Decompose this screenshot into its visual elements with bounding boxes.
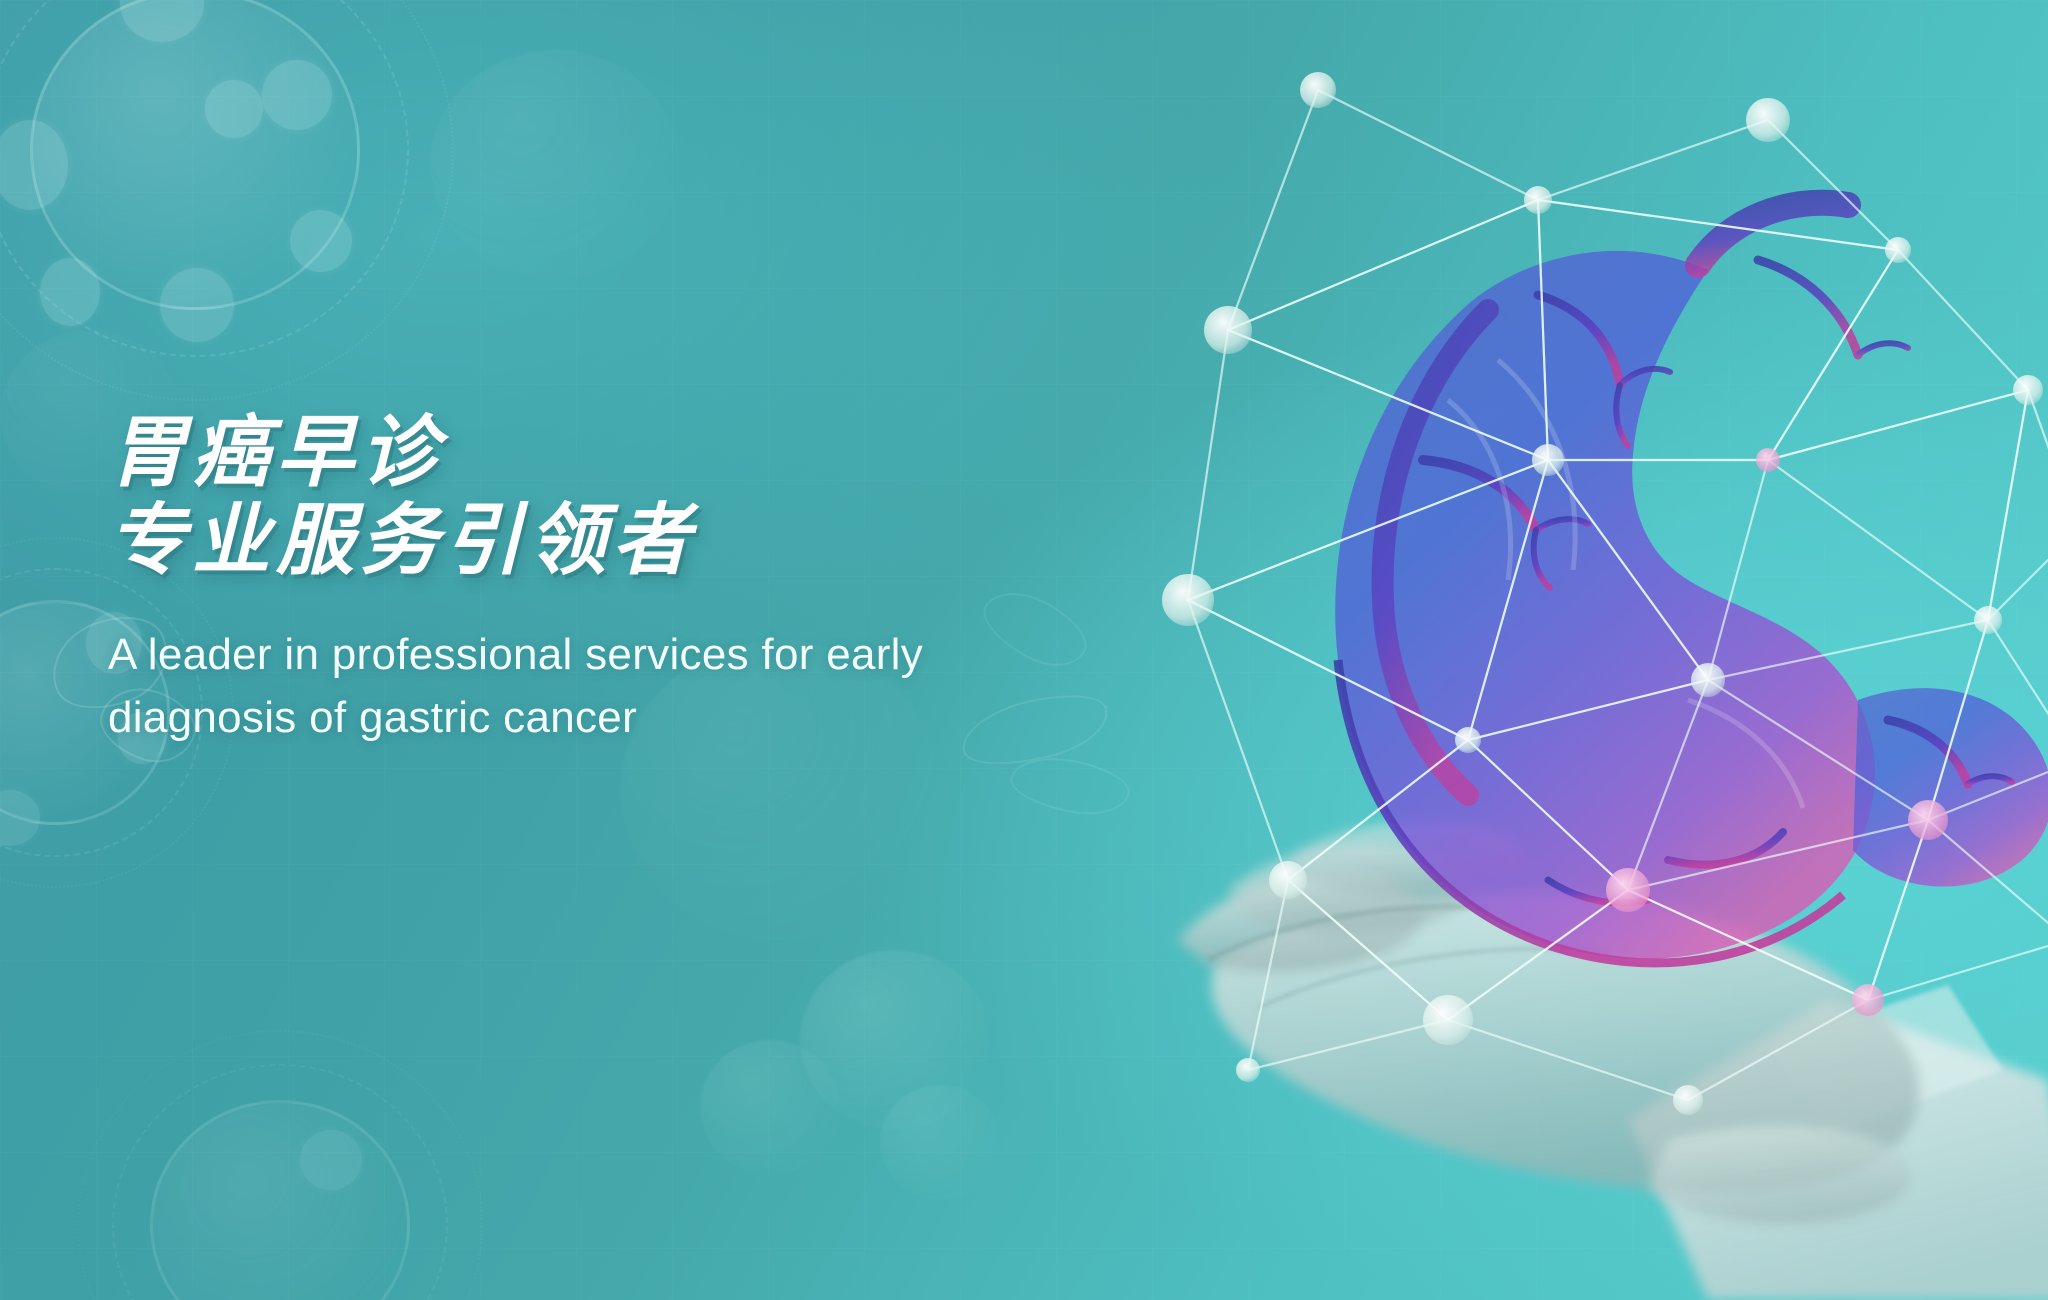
headline-line-2: 专业服务引领者 (108, 496, 1188, 584)
virus-shape (30, 0, 360, 310)
page-subtitle: A leader in professional services for ea… (108, 624, 1188, 749)
subtitle-line-1: A leader in professional services for ea… (108, 630, 923, 679)
cell-blob (430, 50, 680, 280)
subtitle-line-2: diagnosis of gastric cancer (108, 687, 1188, 749)
virus-spike (205, 80, 263, 138)
virus-shape (150, 1100, 410, 1300)
virus-spike (120, 0, 204, 42)
virus-spike (40, 258, 100, 326)
virus-spike (262, 60, 332, 130)
cell-blob (800, 950, 990, 1130)
banner-hero: 胃癌早诊 专业服务引领者 A leader in professional se… (0, 0, 2048, 1300)
stomach-network-hand-artwork (1068, 60, 2048, 1300)
page-title: 胃癌早诊 专业服务引领者 (108, 408, 1188, 584)
virus-spike (0, 790, 40, 846)
virus-spike (300, 1130, 362, 1190)
stomach-illustration (1335, 203, 2048, 963)
cell-blob (700, 1040, 840, 1175)
virus-spike (0, 120, 68, 210)
cell-blob (880, 1085, 1000, 1200)
virus-spike (160, 268, 234, 342)
headline-line-1: 胃癌早诊 (108, 408, 444, 496)
virus-spike (290, 210, 352, 272)
hero-text-block: 胃癌早诊 专业服务引领者 A leader in professional se… (108, 408, 1188, 749)
